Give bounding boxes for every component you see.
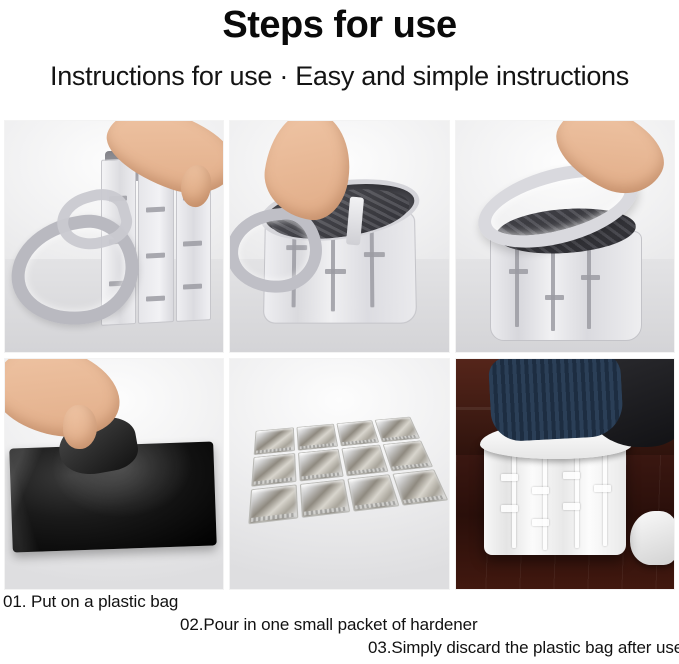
hardener-sachet xyxy=(298,448,343,480)
shoe xyxy=(630,511,675,565)
photo-step-place-seat-ring: Hand lowering the oval seat ring onto th… xyxy=(455,120,675,353)
instruction-sheet: Steps for use Instructions for use · Eas… xyxy=(0,0,679,664)
assembled-toilet-body xyxy=(484,443,626,555)
hardener-sachet xyxy=(254,427,295,455)
photo-step-insert-liner: Hand fitting the dark liner bag into the… xyxy=(229,120,449,353)
hardener-sachet xyxy=(252,453,297,486)
page-title: Steps for use xyxy=(0,0,679,47)
hardener-sachet xyxy=(347,473,400,511)
caption-step-1: 01. Put on a plastic bag xyxy=(0,590,679,613)
hardener-sachet xyxy=(249,484,299,524)
photo-step-in-use: Person in a blue knit sweater seated on … xyxy=(455,358,675,591)
hardener-sachet xyxy=(341,444,389,475)
hardener-sachet xyxy=(336,420,379,447)
photo-step-unfold-frame: Hand unfolding the accordion-style gray … xyxy=(4,120,224,353)
hardener-sachet xyxy=(300,478,350,517)
caption-step-3: 03.Simply discard the plastic bag after … xyxy=(0,636,679,659)
hardener-sachet xyxy=(297,423,338,450)
caption-list: 01. Put on a plastic bag 02.Pour in one … xyxy=(0,590,679,664)
photo-step-hardener-packets: Twelve silver foil hardener sachets arra… xyxy=(229,358,449,591)
photo-grid: Hand unfolding the accordion-style gray … xyxy=(4,120,675,590)
photo-step-plastic-bag: Hand lifting a folded black plastic bag … xyxy=(4,358,224,591)
caption-step-2: 02.Pour in one small packet of hardener xyxy=(0,613,679,636)
page-subtitle: Instructions for use · Easy and simple i… xyxy=(0,47,679,93)
seated-person-sweater xyxy=(488,358,624,442)
